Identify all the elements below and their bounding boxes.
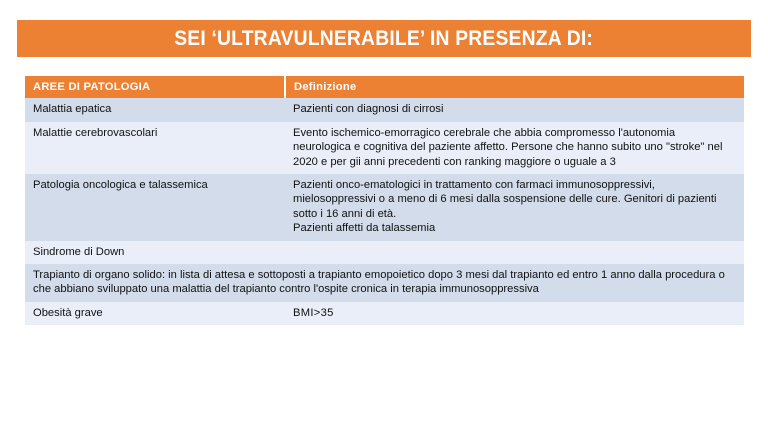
table-row: Trapianto di organo solido: in lista di … [25, 264, 744, 302]
table-row: Malattia epaticaPazienti con diagnosi di… [25, 98, 744, 121]
row-cell-area: Obesità grave [25, 302, 285, 325]
page-title: SEI ‘ULTRAVULNERABILE’ IN PRESENZA DI: [175, 27, 594, 51]
row-cell-area: Malattie cerebrovascolari [25, 122, 285, 174]
row-cell-definizione: Evento ischemico-emorragico cerebrale ch… [285, 122, 744, 174]
column-header-definizione: Definizione [285, 76, 744, 98]
table-header: AREE DI PATOLOGIA Definizione [25, 76, 744, 98]
row-cell-definizione: Pazienti con diagnosi di cirrosi [285, 98, 744, 121]
slide-title-banner: SEI ‘ULTRAVULNERABILE’ IN PRESENZA DI: [17, 20, 751, 57]
table-header-row: AREE DI PATOLOGIA Definizione [25, 76, 744, 98]
row-cell-definizione: Pazienti onco-ematologici in trattamento… [285, 174, 744, 241]
table-row: Obesità graveBMI>35 [25, 302, 744, 325]
table-row: Patologia oncologica e talassemicaPazien… [25, 174, 744, 241]
table-row: Sindrome di Down [25, 241, 744, 264]
row-cell-full-span: Trapianto di organo solido: in lista di … [25, 264, 744, 302]
row-cell-area: Malattia epatica [25, 98, 285, 121]
table-row: Malattie cerebrovascolariEvento ischemic… [25, 122, 744, 174]
row-cell-area: Patologia oncologica e talassemica [25, 174, 285, 241]
table-body: Malattia epaticaPazienti con diagnosi di… [25, 98, 744, 325]
row-cell-definizione [285, 241, 744, 264]
column-header-area: AREE DI PATOLOGIA [25, 76, 285, 98]
row-cell-area: Sindrome di Down [25, 241, 285, 264]
row-cell-definizione: BMI>35 [285, 302, 744, 325]
pathology-table: AREE DI PATOLOGIA Definizione Malattia e… [25, 76, 744, 325]
